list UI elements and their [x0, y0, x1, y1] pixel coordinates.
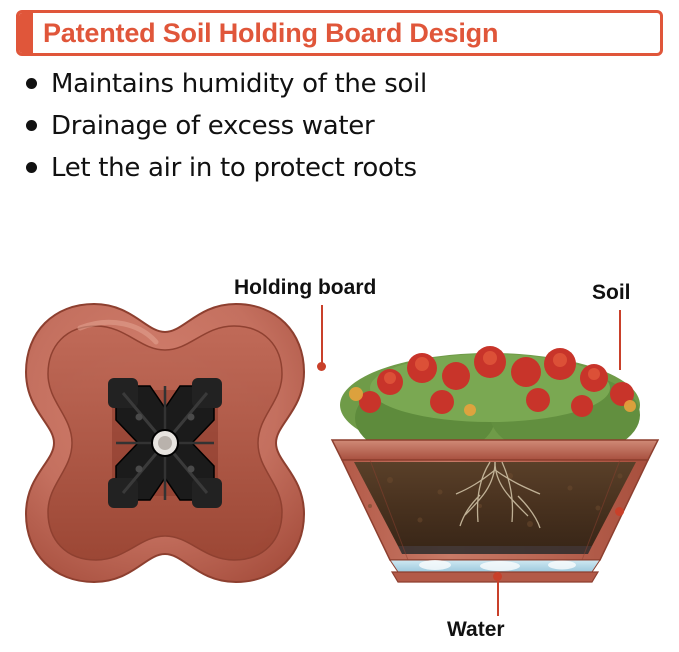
marker-dot-holding-board	[317, 362, 326, 371]
holding-board-strip	[398, 546, 592, 554]
leader-line-water	[497, 580, 499, 616]
list-item: Maintains humidity of the soil	[20, 66, 640, 102]
list-item: Drainage of excess water	[20, 108, 640, 144]
feature-list: Maintains humidity of the soil Drainage …	[20, 66, 640, 192]
label-holding-board: Holding board	[234, 276, 376, 300]
marker-dot-water	[493, 572, 502, 581]
header-banner: Patented Soil Holding Board Design	[16, 10, 663, 56]
cross-section-svg	[330, 310, 660, 600]
pot-cross-section-view	[330, 310, 660, 600]
list-item-label: Drainage of excess water	[51, 108, 374, 144]
leader-line-holding-board	[321, 305, 323, 365]
banner-accent-bar	[19, 13, 33, 53]
leader-line-soil	[619, 310, 621, 370]
soil-fill	[354, 462, 636, 546]
bullet-dot-icon	[26, 120, 37, 131]
bullet-dot-icon	[26, 162, 37, 173]
label-soil: Soil	[592, 281, 631, 305]
label-water: Water	[447, 618, 505, 642]
clover-pot-shape	[20, 298, 310, 598]
marker-dot-soil	[615, 507, 624, 516]
pot-rim	[332, 440, 658, 460]
product-illustration: Holding board Soil Water	[0, 250, 679, 652]
pot-bottom-view	[20, 298, 310, 598]
list-item-label: Let the air in to protect roots	[51, 150, 417, 186]
page-title: Patented Soil Holding Board Design	[33, 13, 660, 53]
bullet-dot-icon	[26, 78, 37, 89]
list-item-label: Maintains humidity of the soil	[51, 66, 427, 102]
list-item: Let the air in to protect roots	[20, 150, 640, 186]
holding-board-part	[108, 378, 222, 508]
